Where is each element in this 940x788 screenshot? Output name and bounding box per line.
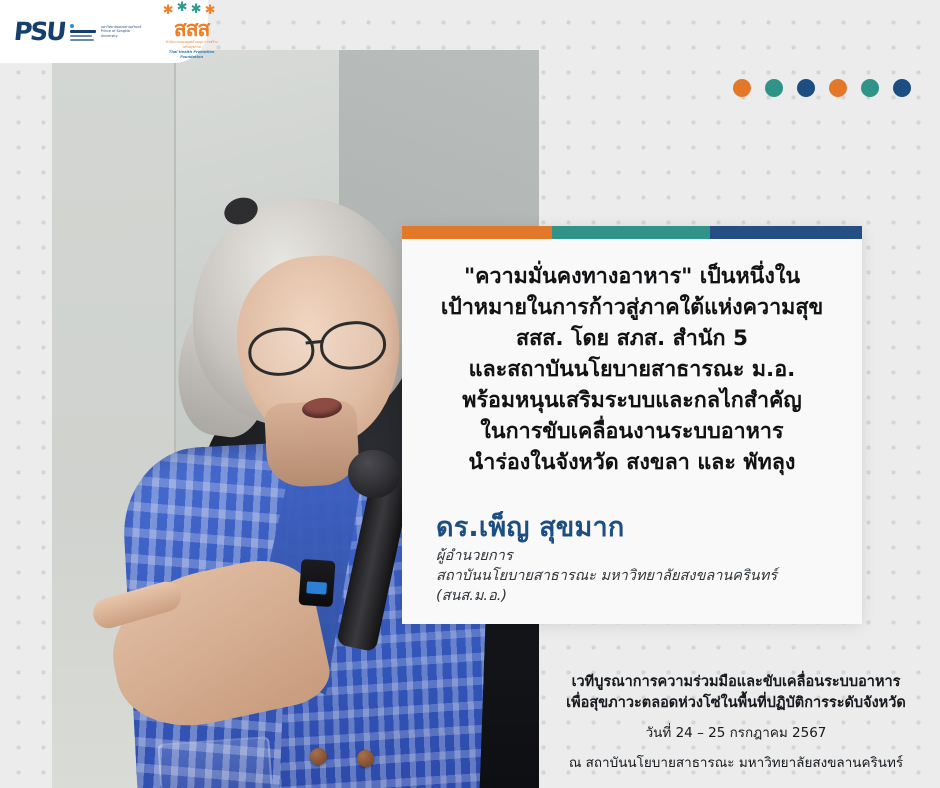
photo-badge-light [306,581,327,594]
logo-row: PSU มหาวิทยาลัยสงขลานครินทร์ Prince of S… [0,0,208,63]
psu-wordmark: PSU [13,19,66,44]
decor-dot-2 [765,79,783,97]
quote-line-6: ในการขับเคลื่อนงานระบบอาหาร [418,416,846,447]
photo-jacket-button [357,750,374,767]
quote-province-2: พัทลุง [743,450,795,475]
quote-text: "ความมั่นคงทางอาหาร" เป็นหนึ่งใน เป้าหมา… [402,239,862,478]
quote-line-3: สสส. โดย สภส. สำนัก 5 [418,323,846,354]
quote-line-5: พร้อมหนุนเสริมระบบและกลไกสำคัญ [418,385,846,416]
psu-en-name: Prince of Songkla University [101,29,145,38]
quote-line-1-bold: "ความมั่นคงทางอาหาร" [464,264,692,289]
decorative-dot-row [733,79,911,97]
psu-logo: PSU มหาวิทยาลัยสงขลานครินทร์ Prince of S… [14,19,145,44]
card-bar-navy [710,226,862,239]
decor-dot-1 [733,79,751,97]
quote-line-4: และสถาบันนโยบายสาธารณะ ม.อ. [418,354,846,385]
quote-line-1-rest: เป็นหนึ่งใน [692,264,800,289]
quote-line-7: นำร่องในจังหวัด สงขลา และ พัทลุง [418,447,846,478]
decor-dot-6 [893,79,911,97]
photo-clip-badge [298,559,335,607]
event-date: วันที่ 24 – 25 กรกฎาคม 2567 [540,723,932,744]
thaihealth-people-icon: ✱ ✱ ✱ ✱ [161,3,223,18]
decor-dot-5 [861,79,879,97]
quote-line-7-mid: และ [690,450,744,475]
quote-line-7-pre: นำร่องในจังหวัด [469,450,627,475]
decor-dot-4 [829,79,847,97]
quote-line-2: เป้าหมายในการก้าวสู่ภาคใต้แห่งความสุข [418,292,846,323]
speaker-role: ผู้อำนวยการ [436,546,848,566]
event-title-line-1: เวทีบูรณาการความร่วมมือและขับเคลื่อนระบบ… [540,672,932,693]
logo-panel: PSU มหาวิทยาลัยสงขลานครินทร์ Prince of S… [0,0,208,63]
event-title-line-2: เพื่อสุขภาวะตลอดห่วงโซ่ในพื้นที่ปฏิบัติก… [540,693,932,714]
quote-province-1: สงขลา [626,450,690,475]
event-venue: ณ สถาบันนโยบายสาธารณะ มหาวิทยาลัยสงขลานค… [540,753,932,774]
card-bar-teal [552,226,710,239]
quote-card: "ความมั่นคงทางอาหาร" เป็นหนึ่งใน เป้าหมา… [402,226,862,624]
psu-bars-icon [70,22,96,41]
photo-jacket-pocket [157,736,274,788]
speaker-organization: สถาบันนโยบายสาธารณะ มหาวิทยาลัยสงขลานคริ… [436,566,848,606]
card-bar-orange [402,226,552,239]
thaihealth-thai-sub: สำนักงานกองทุนสนับสนุน การสร้างเสริมสุขภ… [161,40,223,49]
photo-jacket-button [310,748,327,765]
thaihealth-en-sub: Thai Health Promotion Foundation [161,50,223,60]
poster-canvas: PSU มหาวิทยาลัยสงขลานครินทร์ Prince of S… [0,0,940,788]
card-accent-bar [402,226,862,239]
thaihealth-wordmark: สสส [174,19,209,39]
quote-line-1: "ความมั่นคงทางอาหาร" เป็นหนึ่งใน [418,261,846,292]
event-footer: เวทีบูรณาการความร่วมมือและขับเคลื่อนระบบ… [540,672,932,774]
speaker-block: ดร.เพ็ญ สุขมาก ผู้อำนวยการ สถาบันนโยบายส… [436,512,848,606]
thaihealth-logo: ✱ ✱ ✱ ✱ สสส สำนักงานกองทุนสนับสนุน การสร… [161,3,223,60]
speaker-name: ดร.เพ็ญ สุขมาก [436,512,848,544]
decor-dot-3 [797,79,815,97]
